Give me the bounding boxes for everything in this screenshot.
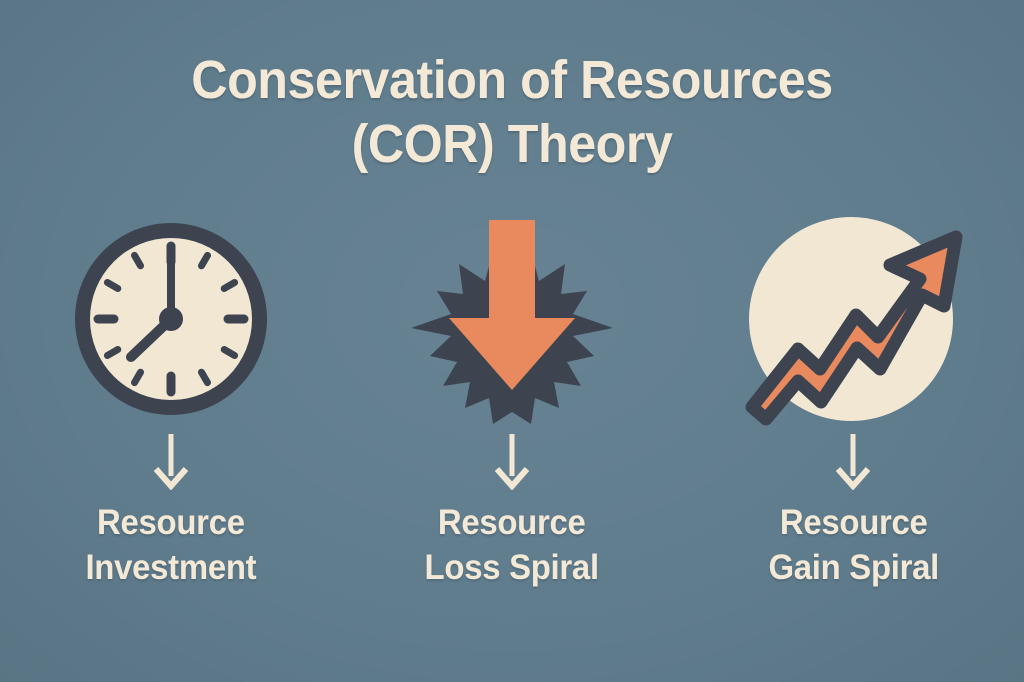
clock-icon	[66, 214, 276, 424]
icon-slot-1	[56, 206, 286, 432]
concept-column-resource-gain-spiral: Resource Gain Spiral	[683, 206, 1024, 626]
down-arrow-connector-3	[833, 432, 873, 494]
icon-slot-3	[738, 206, 968, 432]
caption-resource-gain-spiral: Resource Gain Spiral	[768, 500, 939, 590]
rising-chart-arrow-icon	[738, 209, 968, 429]
concept-column-resource-investment: Resource Investment	[0, 206, 341, 626]
caption-resource-loss-spiral: Resource Loss Spiral	[425, 500, 599, 590]
down-arrow-icon	[494, 432, 530, 490]
title-line-2: (COR) Theory	[36, 112, 988, 176]
down-arrow-icon	[153, 432, 189, 490]
down-arrow-connector-2	[492, 432, 532, 494]
caption-line-1: Resource	[85, 500, 256, 545]
caption-resource-investment: Resource Investment	[85, 500, 256, 590]
caption-line-2: Gain Spiral	[768, 545, 939, 590]
burst-down-arrow-icon	[397, 212, 627, 427]
caption-line-2: Loss Spiral	[425, 545, 599, 590]
page-title: Conservation of Resources (COR) Theory	[0, 48, 1024, 176]
poster-canvas: Conservation of Resources (COR) Theory	[0, 0, 1024, 682]
concept-columns: Resource Investment	[0, 206, 1024, 626]
down-arrow-icon	[835, 432, 871, 490]
concept-column-resource-loss-spiral: Resource Loss Spiral	[341, 206, 682, 626]
icon-slot-2	[397, 206, 627, 432]
down-arrow-connector-1	[151, 432, 191, 494]
caption-line-2: Investment	[85, 545, 256, 590]
caption-line-1: Resource	[768, 500, 939, 545]
clock-center-pin	[159, 307, 183, 331]
caption-line-1: Resource	[425, 500, 599, 545]
title-line-1: Conservation of Resources	[36, 48, 988, 112]
